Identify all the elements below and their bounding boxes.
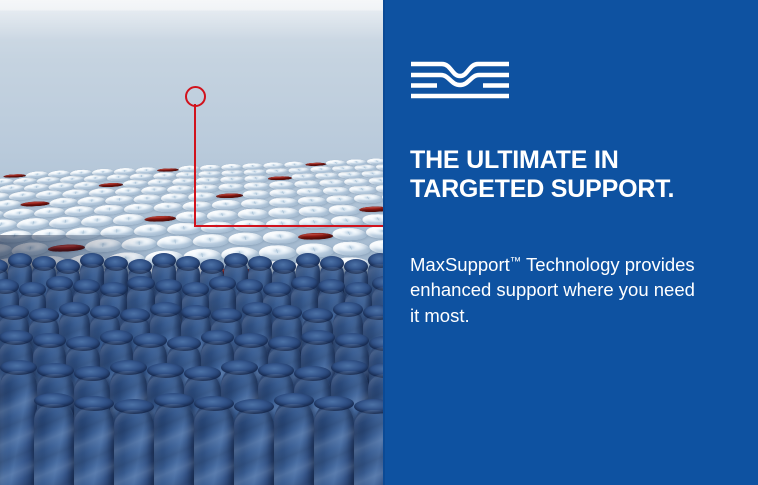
white-pocket-coil	[0, 230, 33, 244]
navy-pocket-coil	[274, 400, 314, 485]
content-panel: THE ULTIMATE INTARGETED SUPPORT. MaxSupp…	[383, 0, 758, 485]
body-copy: MaxSupport™ Technology provides enhanced…	[410, 250, 700, 328]
page-title: THE ULTIMATE INTARGETED SUPPORT.	[410, 146, 730, 204]
navy-pocket-coil	[234, 406, 274, 485]
white-pocket-coil	[80, 215, 113, 227]
white-pocket-coil	[232, 219, 268, 232]
navy-pocket-coil	[194, 403, 234, 485]
white-pocket-coil	[113, 213, 145, 225]
white-pocket-coil	[296, 216, 334, 229]
white-pocket-coil	[351, 193, 383, 203]
panel-left-edge	[383, 0, 385, 485]
promo-banner: THE ULTIMATE INTARGETED SUPPORT. MaxSupp…	[0, 0, 758, 485]
mattress-coil-photo	[0, 0, 383, 485]
white-pocket-coil	[266, 207, 301, 219]
white-pocket-coil	[236, 208, 270, 220]
white-pocket-coil	[296, 205, 331, 217]
navy-pocket-coil	[0, 367, 37, 485]
navy-pocket-coil	[154, 400, 194, 485]
headline-line-2: TARGETED SUPPORT.	[410, 175, 674, 203]
red-accent-coil	[144, 215, 176, 222]
white-pocket-coil	[328, 215, 366, 228]
navy-pocket-coil	[34, 400, 74, 485]
wave-lines-icon	[411, 60, 509, 100]
product-name: MaxSupport	[410, 254, 510, 275]
white-pocket-coil	[192, 233, 230, 248]
headline-line-1: THE ULTIMATE IN	[410, 146, 619, 174]
trademark-symbol: ™	[510, 256, 521, 268]
white-pocket-coil	[261, 230, 301, 244]
white-pocket-coil	[226, 232, 265, 246]
navy-pocket-coil-layer	[0, 250, 383, 465]
white-pocket-coil	[321, 186, 352, 196]
navy-pocket-coil	[314, 403, 354, 485]
white-pocket-coil	[359, 214, 383, 227]
white-pocket-coil	[167, 222, 202, 235]
white-pocket-coil	[206, 209, 239, 221]
navy-pocket-coil	[114, 406, 154, 485]
white-pocket-coil	[48, 216, 82, 228]
navy-pocket-coil	[354, 406, 383, 485]
red-accent-coil	[215, 193, 243, 199]
red-accent-coil	[20, 201, 50, 207]
white-pocket-coil	[157, 235, 194, 250]
white-pocket-coil	[326, 204, 362, 216]
navy-coil-row	[34, 400, 383, 485]
white-pocket-coil	[264, 218, 301, 231]
white-pocket-coil	[199, 221, 235, 234]
white-pocket-coil	[329, 227, 370, 241]
red-accent-coil	[297, 232, 335, 240]
white-pocket-coil	[65, 227, 101, 240]
red-accent-coil	[357, 206, 383, 213]
white-pocket-coil	[134, 224, 168, 237]
white-pocket-coil	[15, 218, 50, 230]
white-pocket-coil	[175, 211, 208, 223]
white-pocket-coil	[100, 225, 134, 238]
navy-pocket-coil	[74, 403, 114, 485]
white-pocket-coil	[30, 228, 67, 242]
